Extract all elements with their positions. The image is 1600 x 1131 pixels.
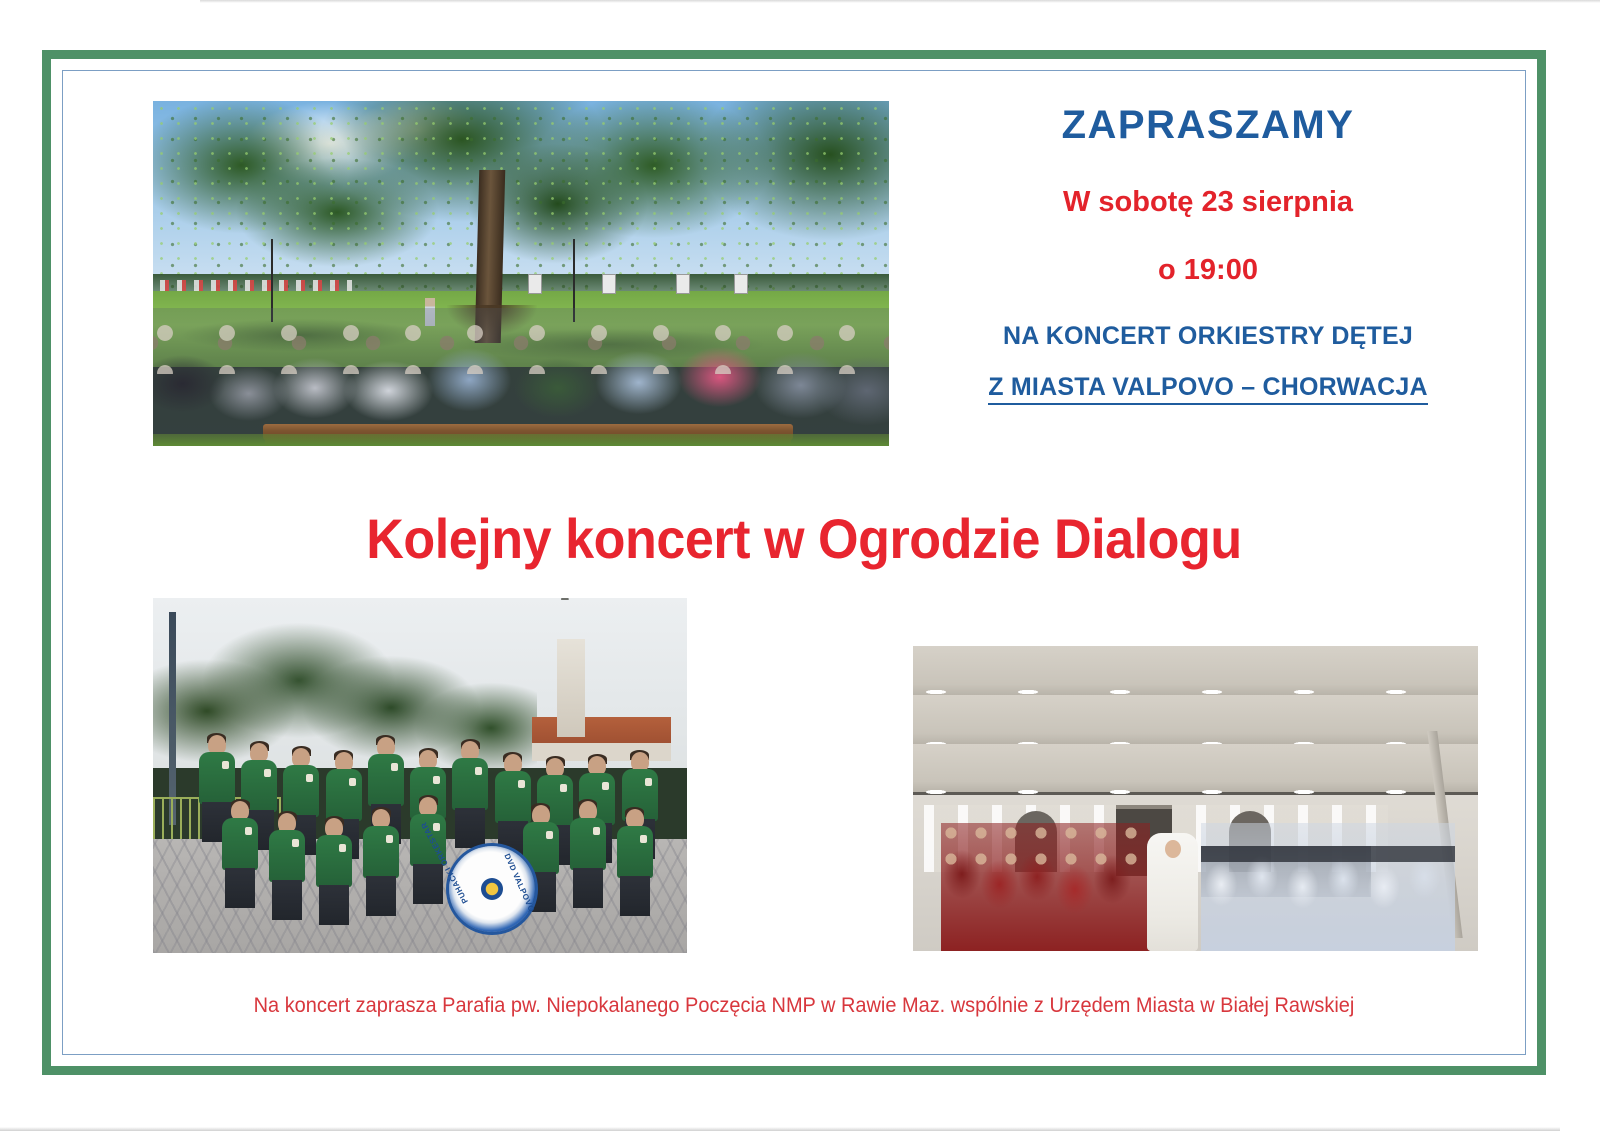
crest-badge — [645, 778, 652, 786]
photo-pope-group — [913, 646, 1478, 951]
pope-figure — [1147, 833, 1198, 951]
park-signboard-1 — [528, 274, 542, 294]
green-polo — [495, 771, 531, 823]
drum-lettering: PUHAČKI ORKESTAR DVD VALPOVO — [449, 846, 535, 932]
invitation-city-line: Z MIASTA VALPOVO – CHORWACJA — [903, 374, 1513, 402]
green-polo — [570, 818, 606, 870]
pope-head — [1165, 840, 1181, 858]
invitation-time: o 19:00 — [903, 255, 1513, 287]
green-polo — [326, 769, 362, 821]
crest-badge — [546, 831, 553, 839]
photo-band-group-content: PUHAČKI ORKESTAR DVD VALPOVO — [153, 598, 687, 953]
band-members-group — [196, 719, 666, 925]
green-polo — [316, 835, 352, 887]
crest-badge — [640, 835, 647, 843]
green-polo — [283, 765, 319, 817]
invitation-title: ZAPRASZAMY — [903, 103, 1513, 147]
green-polo — [222, 818, 258, 870]
crest-badge — [349, 778, 356, 786]
poster-inner-border: ZAPRASZAMY W sobotę 23 sierpnia o 19:00 … — [62, 70, 1526, 1055]
invitation-date: W sobotę 23 sierpnia — [903, 187, 1513, 219]
bass-drum: PUHAČKI ORKESTAR DVD VALPOVO — [449, 846, 535, 932]
crest-badge — [593, 827, 600, 835]
crest-badge — [386, 835, 393, 843]
green-polo — [269, 830, 305, 882]
crest-badge — [560, 784, 567, 792]
trousers — [573, 868, 603, 908]
poster-footer-note: Na koncert zaprasza Parafia pw. Niepokal… — [111, 994, 1498, 1018]
green-polo — [617, 826, 653, 878]
choir-in-red-robes — [941, 823, 1150, 951]
photo-pope-group-content — [913, 646, 1478, 951]
poster-page: ZAPRASZAMY W sobotę 23 sierpnia o 19:00 … — [0, 0, 1600, 1131]
foreground-grass — [153, 434, 889, 446]
photo-outdoor-concert-content — [153, 101, 889, 446]
green-polo — [368, 754, 404, 806]
choir-heads — [941, 823, 1150, 877]
trousers — [455, 808, 485, 848]
park-signboard-3 — [676, 274, 690, 294]
poster-headline: Kolejny koncert w Ogrodzie Dialogu — [125, 506, 1483, 571]
canopy-panel-3 — [913, 744, 1478, 796]
trousers — [620, 876, 650, 916]
band-in-white-uniforms — [1201, 823, 1455, 951]
invitation-concert-line: NA KONCERT ORKIESTRY DĘTEJ — [903, 323, 1513, 351]
crowd-heads — [153, 319, 889, 374]
crest-badge — [292, 839, 299, 847]
scan-edge-top — [200, 0, 1600, 3]
green-polo — [363, 826, 399, 878]
crest-badge — [475, 767, 482, 775]
photo-band-group: PUHAČKI ORKESTAR DVD VALPOVO — [153, 598, 687, 953]
crest-badge — [306, 774, 313, 782]
green-polo — [452, 758, 488, 810]
invitation-city-text: Z MIASTA VALPOVO – CHORWACJA — [988, 373, 1427, 405]
crest-badge — [222, 761, 229, 769]
crest-badge — [602, 782, 609, 790]
audience-crowd — [153, 308, 889, 446]
uniform-ties — [1201, 846, 1455, 923]
park-signboard-2 — [602, 274, 616, 294]
group-photo-people — [913, 823, 1478, 951]
invitation-text-block: ZAPRASZAMY W sobotę 23 sierpnia o 19:00 … — [903, 103, 1513, 402]
canopy-lights-3 — [924, 789, 1466, 796]
crest-badge — [264, 769, 271, 777]
crest-badge — [391, 763, 398, 771]
photo-outdoor-concert — [153, 101, 889, 446]
canopy-panel-2 — [913, 695, 1478, 747]
crest-badge — [339, 844, 346, 852]
trousers — [225, 868, 255, 908]
crest-badge — [245, 827, 252, 835]
trousers — [413, 864, 443, 904]
crest-badge — [518, 780, 525, 788]
green-polo — [199, 752, 235, 804]
scan-edge-bottom — [0, 1127, 1560, 1131]
crest-badge — [433, 823, 440, 831]
park-signboard-4 — [734, 274, 748, 294]
trousers — [319, 885, 349, 925]
trousers — [272, 880, 302, 920]
trousers — [366, 876, 396, 916]
drum-text-bottom: DVD VALPOVO — [503, 852, 537, 913]
lamp-post — [169, 612, 176, 825]
church-tower-spire — [561, 598, 569, 600]
poster-green-frame: ZAPRASZAMY W sobotę 23 sierpnia o 19:00 … — [42, 50, 1546, 1075]
crest-badge — [433, 776, 440, 784]
